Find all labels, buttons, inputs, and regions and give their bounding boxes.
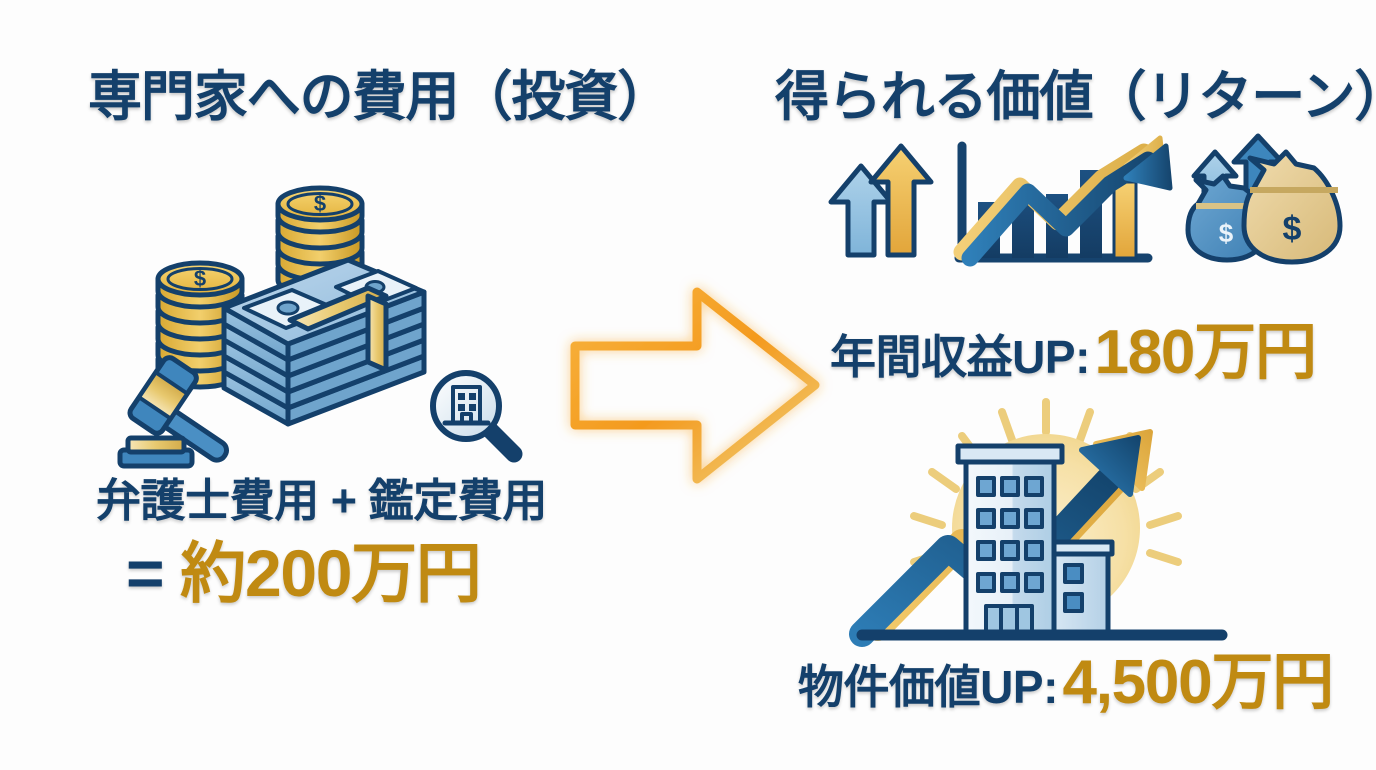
svg-text:$: $ xyxy=(1283,210,1302,248)
svg-text:$: $ xyxy=(1219,218,1234,248)
property-value: 4,500万円 xyxy=(1062,648,1332,717)
transition-arrow xyxy=(565,278,825,493)
income-growth-illustration: $ $ xyxy=(826,130,1316,320)
office-building-icon xyxy=(958,446,1062,632)
banknote-bundle-icon xyxy=(224,260,424,424)
bar-highlight xyxy=(1114,182,1136,258)
property-value-illustration xyxy=(850,402,1270,657)
cost-panel: $ $ xyxy=(0,150,620,770)
up-arrows-icon xyxy=(831,146,931,255)
property-label: 物件価値UP: xyxy=(798,661,1058,713)
cost-total-amount: 約200万円 xyxy=(180,536,480,610)
income-value: 180万円 xyxy=(1094,318,1315,387)
investment-return-infographic: 専門家への費用（投資） 得られる価値（リターン） xyxy=(0,0,1376,768)
left-column-heading: 専門家への費用（投資） xyxy=(88,70,670,124)
equals-sign: = xyxy=(126,536,163,610)
property-value-row: 物件価値UP: 4,500万円 xyxy=(798,652,1333,714)
svg-text:$: $ xyxy=(194,266,206,291)
cost-total-row: = 約200万円 xyxy=(126,540,480,606)
benefit-income: $ $ 年間収益UP: 180万円 xyxy=(790,130,1376,320)
money-bags-icon: $ $ xyxy=(1188,136,1340,262)
svg-text:$: $ xyxy=(314,191,326,216)
cost-illustration: $ $ xyxy=(110,160,540,480)
right-column-heading: 得られる価値（リターン） xyxy=(775,70,1376,124)
benefit-property: 物件価値UP: 4,500万円 xyxy=(790,402,1376,657)
cost-items-label: 弁護士費用 + 鑑定費用 xyxy=(96,478,547,523)
benefits-panel: $ $ 年間収益UP: 180万円 xyxy=(790,130,1376,760)
bar-chart-growth-icon xyxy=(959,138,1170,258)
magnifier-building-icon xyxy=(433,373,514,454)
income-label: 年間収益UP: xyxy=(830,331,1090,383)
income-value-row: 年間収益UP: 180万円 xyxy=(830,322,1316,384)
